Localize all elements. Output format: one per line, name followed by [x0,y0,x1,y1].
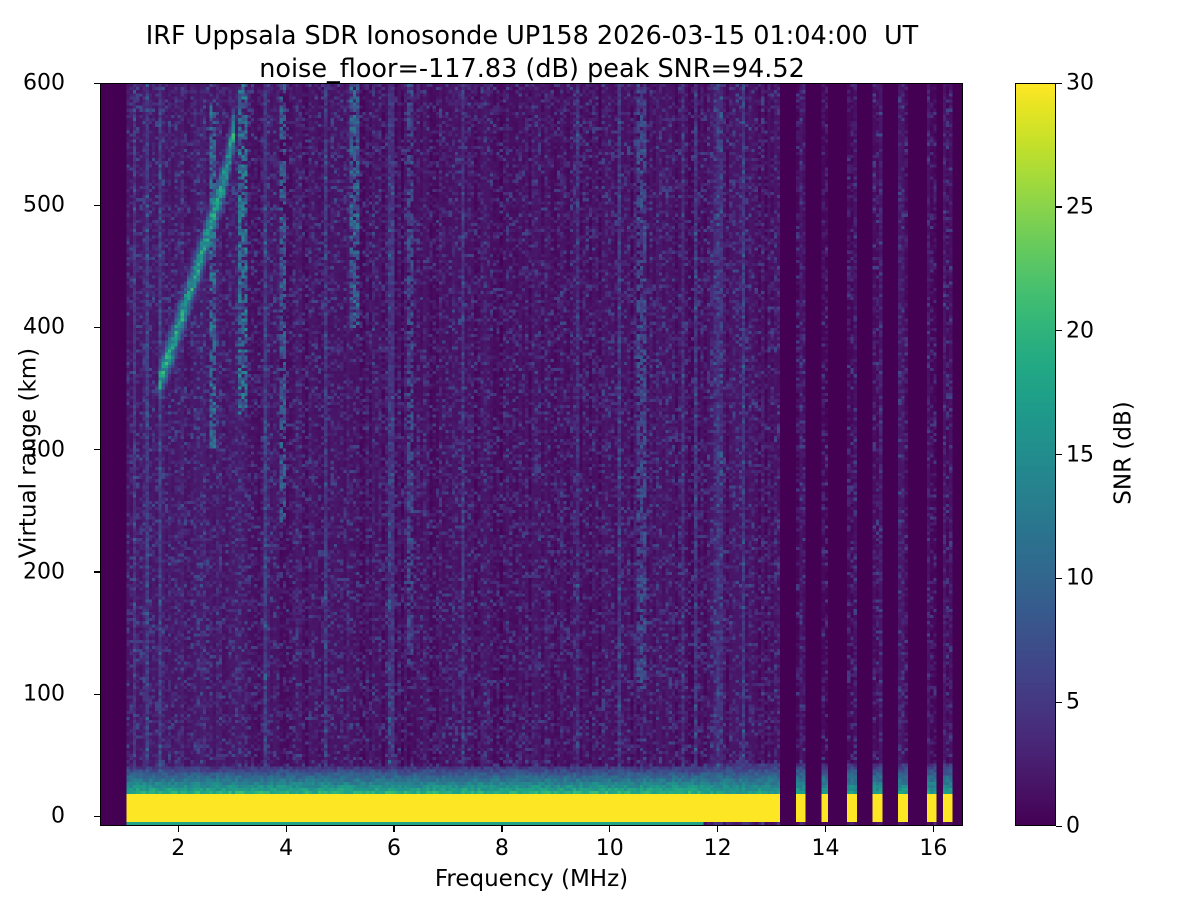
title-line-2: noise_floor=-117.83 (dB) peak SNR=94.52 [0,53,1064,86]
title-line-1: IRF Uppsala SDR Ionosonde UP158 2026-03-… [0,20,1064,53]
x-axis-label: Frequency (MHz) [100,866,963,892]
y-tick-mark [94,83,100,84]
figure-title: IRF Uppsala SDR Ionosonde UP158 2026-03-… [0,20,1064,85]
y-tick-mark [94,327,100,328]
ionogram-heatmap [101,84,962,825]
ionogram-plot-area[interactable] [100,83,963,826]
snr-colorbar[interactable] [1015,83,1056,826]
x-tick-mark [501,826,502,832]
colorbar-tick-mark [1056,578,1062,579]
colorbar-tick-mark [1056,83,1062,84]
ionogram-figure: IRF Uppsala SDR Ionosonde UP158 2026-03-… [0,0,1200,900]
x-tick-label: 16 [919,836,947,861]
colorbar-tick-label: 15 [1066,442,1094,467]
x-tick-mark [717,826,718,832]
colorbar-gradient [1016,84,1055,825]
colorbar-tick-label: 10 [1066,566,1094,591]
colorbar-tick-label: 25 [1066,194,1094,219]
x-tick-label: 8 [495,836,509,861]
y-tick-mark [94,571,100,572]
y-tick-mark [94,694,100,695]
colorbar-tick-label: 30 [1066,71,1094,96]
colorbar-tick-label: 0 [1066,814,1080,839]
x-tick-mark [933,826,934,832]
colorbar-tick-mark [1056,454,1062,455]
colorbar-tick-mark [1056,330,1062,331]
x-tick-mark [825,826,826,832]
y-tick-mark [94,205,100,206]
x-tick-label: 4 [279,836,293,861]
y-tick-label: 0 [51,804,65,829]
y-tick-mark [94,449,100,450]
colorbar-tick-mark [1056,206,1062,207]
x-tick-label: 2 [171,836,185,861]
x-tick-label: 6 [387,836,401,861]
x-tick-label: 12 [704,836,732,861]
y-axis-label: Virtual range (km) [16,82,42,825]
x-tick-mark [178,826,179,832]
x-tick-label: 14 [811,836,839,861]
x-tick-mark [609,826,610,832]
colorbar-tick-label: 20 [1066,318,1094,343]
colorbar-tick-mark [1056,702,1062,703]
colorbar-tick-mark [1056,826,1062,827]
x-tick-mark [393,826,394,832]
y-tick-mark [94,816,100,817]
colorbar-label: SNR (dB) [1111,82,1137,825]
colorbar-tick-label: 5 [1066,690,1080,715]
x-tick-mark [286,826,287,832]
x-tick-label: 10 [596,836,624,861]
